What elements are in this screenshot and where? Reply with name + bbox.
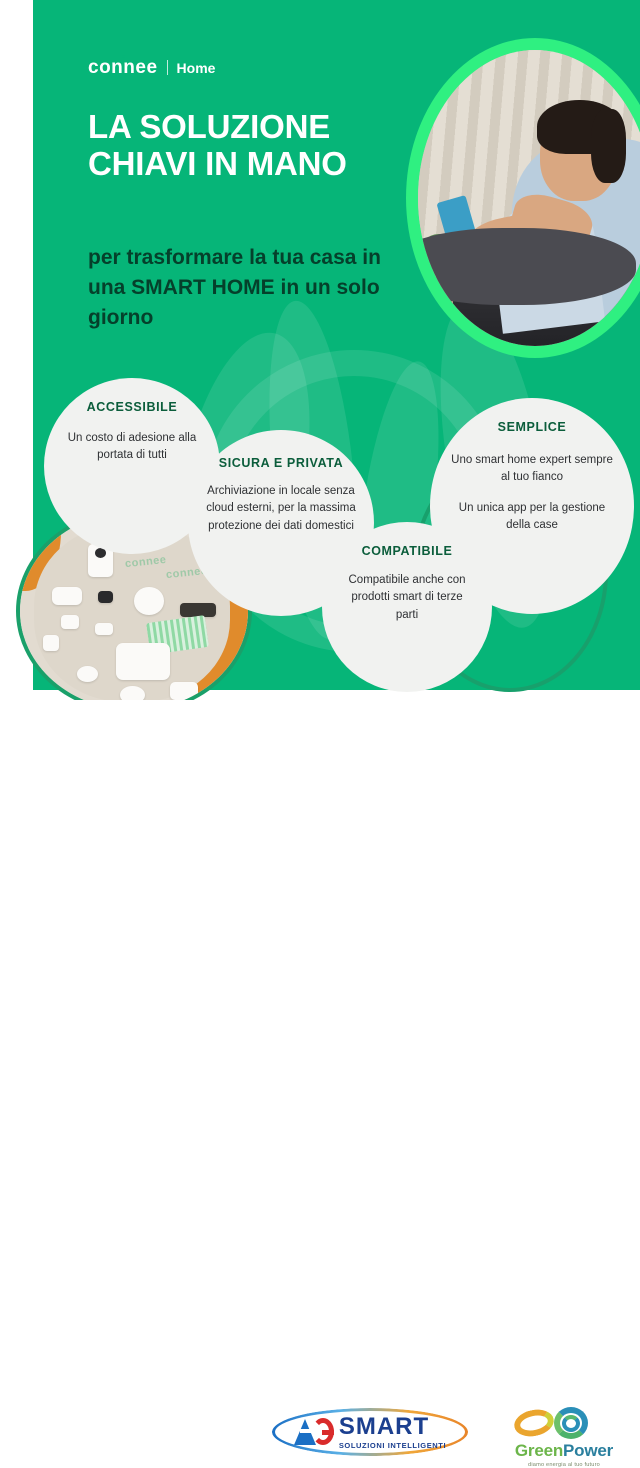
device-sensor (77, 666, 98, 682)
feature-text: Un unica app per la gestione della case (450, 500, 614, 535)
feature-text: Compatibile anche con prodotti smart di … (342, 572, 472, 624)
feature-text: Un costo di adesione alla portata di tut… (66, 430, 198, 465)
feature-title: SEMPLICE (498, 420, 567, 434)
device-sensor (43, 635, 59, 651)
device-hub (116, 643, 171, 681)
flyer-page: connee Home LA SOLUZIONE CHIAVI IN MANO … (0, 0, 640, 800)
ag-logo-tagline: SOLUZIONI INTELLIGENTI (339, 1441, 446, 1450)
feature-text: Archiviazione in locale senza cloud este… (206, 483, 356, 535)
feature-title: SICURA E PRIVATA (219, 456, 343, 470)
page-subtitle: per trasformare la tua casa in una SMART… (88, 243, 388, 332)
greenpower-name-green: Green (515, 1441, 563, 1461)
device-strip (180, 603, 216, 617)
greenpower-spiral-icon (510, 1406, 618, 1440)
feature-title: ACCESSIBILE (87, 400, 178, 414)
hero-photo (418, 50, 640, 346)
footer: SMART SOLUZIONI INTELLIGENTI Green Power… (0, 700, 640, 800)
device-sensor (52, 587, 82, 605)
ag-monogram-icon (294, 1417, 336, 1447)
logo-dot-icon (122, 55, 125, 58)
photo-person-hair-side (591, 109, 626, 183)
greenpower-name-power: Power (563, 1441, 613, 1461)
feature-bubble-compatibile: COMPATIBILE Compatibile anche con prodot… (322, 522, 492, 692)
feature-title: COMPATIBILE (362, 544, 453, 558)
brand-wordmark: connee (88, 58, 158, 77)
device-sensor (95, 623, 113, 635)
device-sensor-dark (98, 591, 114, 603)
device-sensor (170, 682, 197, 700)
ag-smart-logo[interactable]: SMART SOLUZIONI INTELLIGENTI (272, 1408, 468, 1456)
device-round (134, 587, 164, 615)
ag-logo-name: SMART (339, 1415, 429, 1439)
feature-text: Uno smart home expert sempre al tuo fian… (450, 452, 614, 487)
device-sensor (61, 615, 79, 629)
logo-divider (167, 60, 168, 75)
page-title: LA SOLUZIONE CHIAVI IN MANO (88, 108, 388, 183)
brand-logo[interactable]: connee Home (88, 58, 215, 77)
greenpower-logo[interactable]: Green Power diamo energia al tuo futuro (510, 1406, 618, 1462)
greenpower-tagline: diamo energia al tuo futuro (510, 1462, 618, 1468)
photo-sofa (418, 228, 636, 305)
brand-subtitle: Home (177, 60, 216, 76)
